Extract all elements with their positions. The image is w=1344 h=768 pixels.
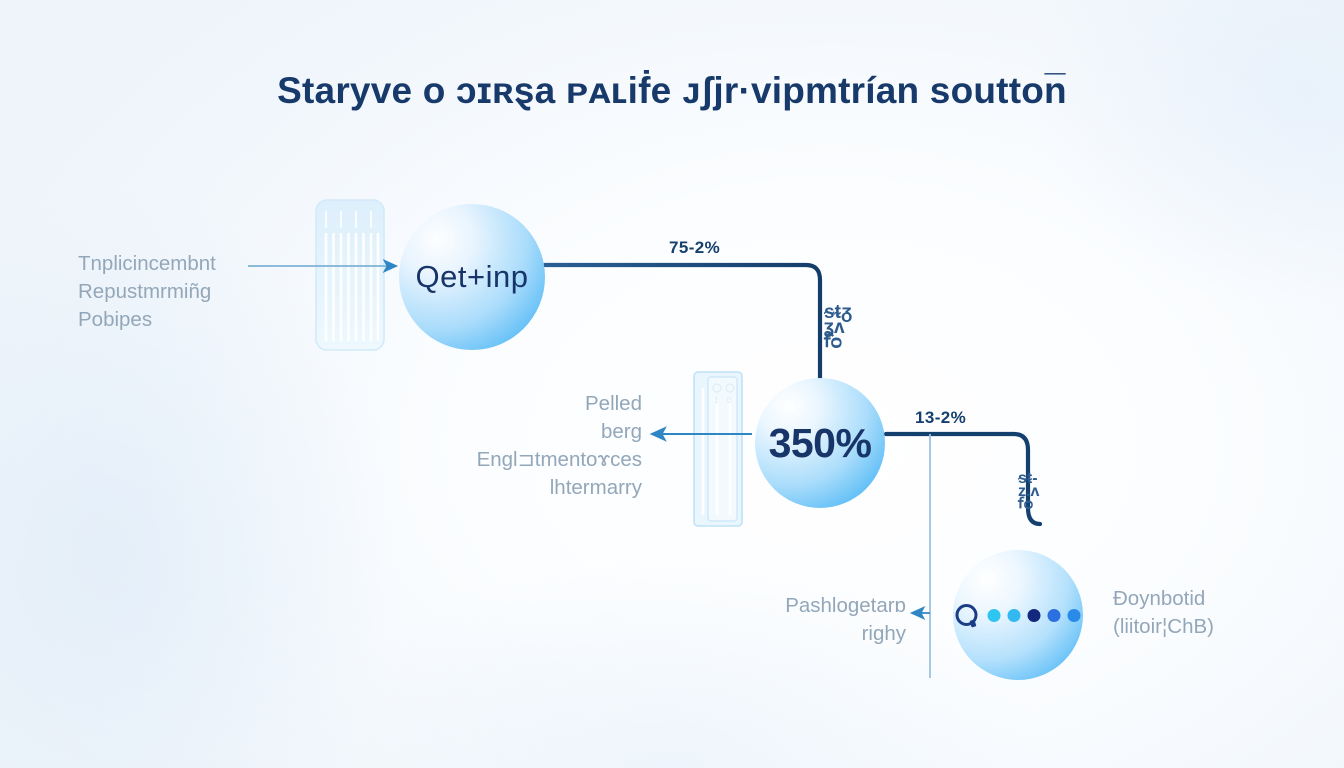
node-3-dots [956, 604, 1081, 626]
doc-shape-1 [316, 200, 384, 350]
svg-text:1: 1 [714, 396, 719, 405]
node-1-caption: Qet+inp [399, 204, 545, 350]
node-3-label: Ðoynbotid (liitoir¦ChB) [1113, 585, 1333, 641]
edge-node1-to-node2 [545, 265, 820, 378]
node-3-bubble[interactable] [953, 550, 1083, 680]
dot-icon [1068, 609, 1081, 622]
q-glyph-icon [956, 604, 978, 626]
dot-icon [988, 609, 1001, 622]
diagram-canvas: Staryve o ɔɪʀȿa ᴘᴀʟiḟe ᴊʃjr·vipmtrían so… [0, 0, 1344, 768]
node-2-caption: 350% [755, 378, 885, 508]
edge-node2-to-node3 [886, 434, 1040, 524]
middle-label-block: Pelled berg Engl⊐tmentoɤces lhtermarry [360, 390, 642, 502]
svg-text:0: 0 [727, 396, 732, 405]
edge-value-1: 75-2% [669, 238, 720, 258]
bottom-label-block: Pashlogetarɒ righy [690, 592, 906, 648]
node-2-bubble[interactable]: 350% [755, 378, 885, 508]
doc-shape-2: 1 0 [694, 372, 742, 526]
edge-node3-to-bottom-label [912, 434, 930, 678]
dot-icon [1048, 609, 1061, 622]
edge-glyph-2: ᵴᵵ- ᴢ.ʌ ꬵᴑ [1018, 472, 1039, 511]
edge-value-2: 13-2% [915, 408, 966, 428]
dot-icon [1008, 609, 1021, 622]
edge-glyph-1: ᵴᵵᵹ ʓᴧ ꬵᴑ [824, 305, 852, 350]
node-1-bubble[interactable]: Qet+inp [399, 204, 545, 350]
connector-layer: 1 0 [0, 0, 1344, 768]
dot-icon [1028, 609, 1041, 622]
left-label-block: Tnplicincembnt Repustmrmiñg Pobipes [78, 250, 248, 334]
